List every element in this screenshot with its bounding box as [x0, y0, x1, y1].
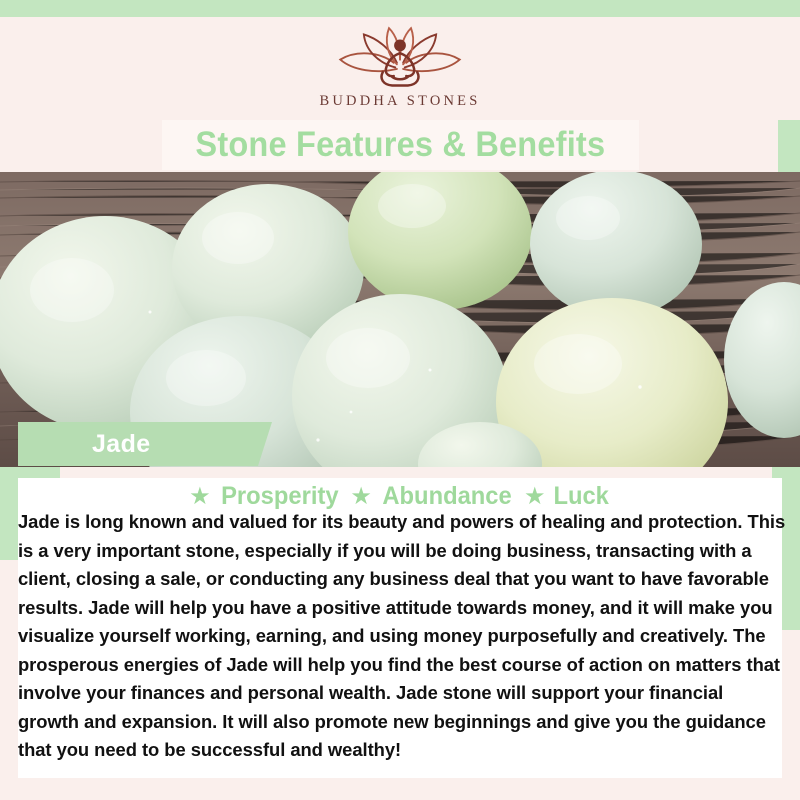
- page-title: Stone Features & Benefits: [196, 125, 606, 165]
- lotus-meditation-icon: [320, 25, 480, 91]
- star-icon: ★: [350, 485, 372, 509]
- keyword-item-abundance: ★ Abundance: [350, 482, 515, 511]
- stone-name: Jade: [92, 430, 151, 459]
- keyword-label: Abundance: [382, 482, 511, 511]
- stone-info-card: BUDDHA STONES Stone Features & Benefits: [0, 0, 800, 800]
- title-banner: Stone Features & Benefits: [162, 120, 639, 170]
- brand-name: BUDDHA STONES: [320, 93, 481, 110]
- stone-description: Jade is long known and valued for its be…: [18, 508, 788, 765]
- keyword-label: Luck: [554, 482, 609, 511]
- stone-name-banner: Jade: [18, 422, 258, 466]
- card-header: BUDDHA STONES: [0, 17, 800, 120]
- brand-logo: BUDDHA STONES: [320, 17, 481, 110]
- star-icon: ★: [189, 485, 211, 509]
- card-bottom-edge: [0, 791, 800, 800]
- keyword-item-luck: ★ Luck: [524, 482, 611, 511]
- keyword-item-prosperity: ★ Prosperity: [189, 482, 341, 511]
- keyword-label: Prosperity: [221, 482, 338, 511]
- decorative-band-top: [0, 0, 800, 17]
- keyword-list: ★ Prosperity ★ Abundance ★ Luck: [0, 482, 800, 511]
- star-icon: ★: [524, 485, 546, 509]
